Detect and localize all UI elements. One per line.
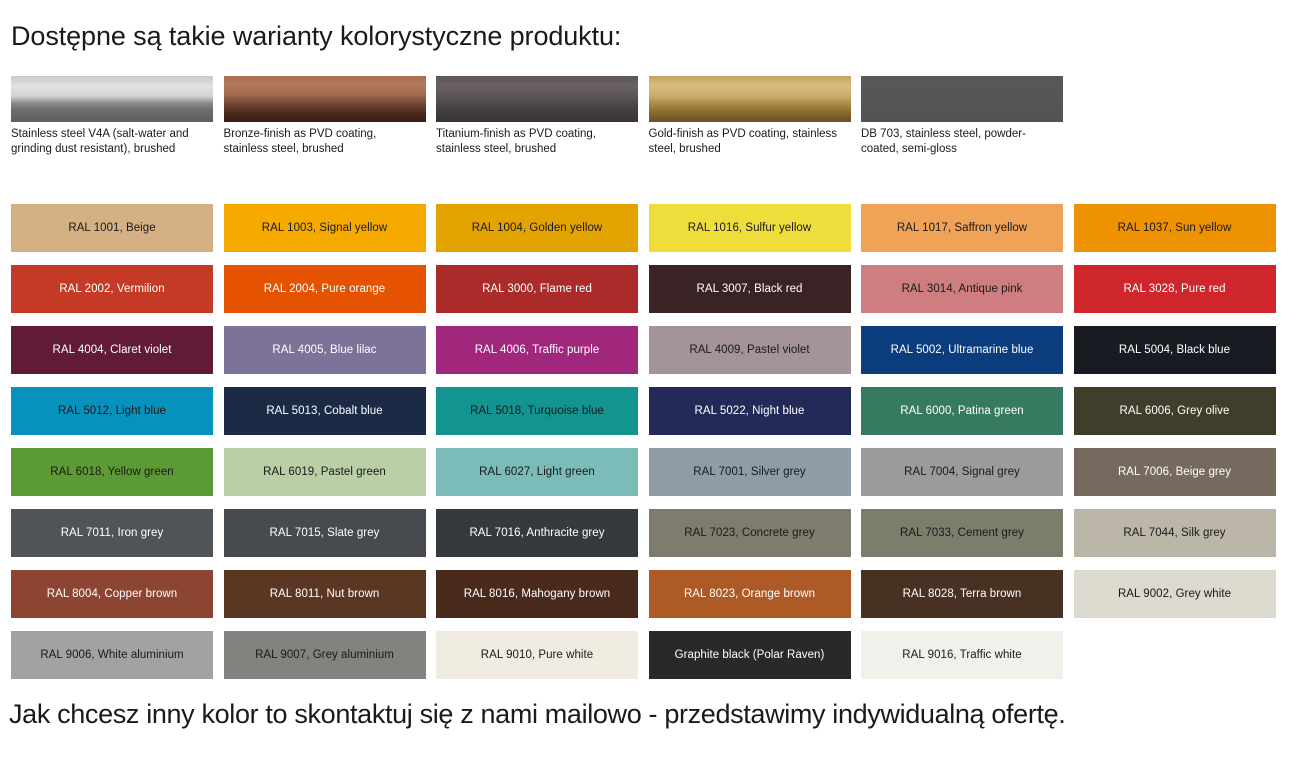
ral-swatch[interactable]: RAL 8004, Copper brown xyxy=(11,570,213,618)
ral-row: RAL 6018, Yellow greenRAL 6019, Pastel g… xyxy=(11,448,1291,509)
color-variants-page: Dostępne są takie warianty kolorystyczne… xyxy=(0,0,1297,757)
ral-swatch[interactable]: RAL 9010, Pure white xyxy=(436,631,638,679)
ral-swatch[interactable]: RAL 5022, Night blue xyxy=(649,387,851,435)
ral-swatch-label: RAL 4005, Blue lilac xyxy=(266,343,382,357)
contact-note: Jak chcesz inny kolor to skontaktuj się … xyxy=(9,697,1065,731)
ral-swatch[interactable]: RAL 7023, Concrete grey xyxy=(649,509,851,557)
ral-swatch[interactable]: RAL 9007, Grey aluminium xyxy=(224,631,426,679)
ral-swatch-label: RAL 6027, Light green xyxy=(473,465,601,479)
ral-swatch[interactable]: RAL 9006, White aluminium xyxy=(11,631,213,679)
ral-swatch[interactable]: RAL 1037, Sun yellow xyxy=(1074,204,1276,252)
ral-swatch-label: RAL 8011, Nut brown xyxy=(264,587,386,601)
ral-swatch[interactable]: RAL 4006, Traffic purple xyxy=(436,326,638,374)
finish-cell[interactable]: Bronze-finish as PVD coating, stainless … xyxy=(224,76,426,156)
ral-swatch-label: RAL 4006, Traffic purple xyxy=(469,343,606,357)
ral-swatch[interactable]: RAL 3007, Black red xyxy=(649,265,851,313)
ral-swatch-label: RAL 7001, Silver grey xyxy=(687,465,811,479)
ral-swatch[interactable]: RAL 7015, Slate grey xyxy=(224,509,426,557)
ral-row: RAL 5012, Light blueRAL 5013, Cobalt blu… xyxy=(11,387,1291,448)
ral-swatch-label: RAL 8004, Copper brown xyxy=(41,587,183,601)
ral-swatch[interactable]: RAL 4009, Pastel violet xyxy=(649,326,851,374)
finish-swatch xyxy=(861,76,1063,122)
ral-swatch[interactable]: RAL 5018, Turquoise blue xyxy=(436,387,638,435)
ral-row: RAL 8004, Copper brownRAL 8011, Nut brow… xyxy=(11,570,1291,631)
ral-swatch-label: RAL 6018, Yellow green xyxy=(44,465,179,479)
ral-color-grid: RAL 1001, BeigeRAL 1003, Signal yellowRA… xyxy=(11,204,1291,692)
finish-cell[interactable]: Titanium-finish as PVD coating, stainles… xyxy=(436,76,638,156)
finish-caption: Stainless steel V4A (salt-water and grin… xyxy=(11,127,211,156)
ral-swatch-label: RAL 4009, Pastel violet xyxy=(683,343,815,357)
ral-swatch[interactable]: RAL 1003, Signal yellow xyxy=(224,204,426,252)
ral-swatch-label: RAL 5018, Turquoise blue xyxy=(464,404,610,418)
ral-swatch-label: RAL 6000, Patina green xyxy=(894,404,1029,418)
ral-swatch[interactable]: RAL 7001, Silver grey xyxy=(649,448,851,496)
ral-swatch[interactable]: RAL 5013, Cobalt blue xyxy=(224,387,426,435)
ral-swatch-label: RAL 7016, Anthracite grey xyxy=(463,526,610,540)
ral-swatch[interactable]: RAL 6006, Grey olive xyxy=(1074,387,1276,435)
page-title: Dostępne są takie warianty kolorystyczne… xyxy=(11,19,621,53)
ral-swatch-label: RAL 9006, White aluminium xyxy=(34,648,189,662)
ral-swatch-label: RAL 7011, Iron grey xyxy=(55,526,170,540)
ral-swatch-label: RAL 8023, Orange brown xyxy=(678,587,821,601)
ral-swatch[interactable]: RAL 8023, Orange brown xyxy=(649,570,851,618)
ral-swatch-label: RAL 9007, Grey aluminium xyxy=(249,648,400,662)
finish-swatch xyxy=(649,76,851,122)
ral-swatch-label: RAL 1001, Beige xyxy=(62,221,161,235)
ral-swatch-label: RAL 3007, Black red xyxy=(691,282,809,296)
ral-swatch[interactable]: RAL 6027, Light green xyxy=(436,448,638,496)
ral-swatch[interactable]: RAL 4005, Blue lilac xyxy=(224,326,426,374)
ral-swatch-label: RAL 5012, Light blue xyxy=(52,404,172,418)
ral-swatch-label: RAL 5002, Ultramarine blue xyxy=(885,343,1040,357)
finish-cell[interactable]: Stainless steel V4A (salt-water and grin… xyxy=(11,76,213,156)
finish-swatch xyxy=(11,76,213,122)
ral-swatch-label: RAL 1037, Sun yellow xyxy=(1112,221,1238,235)
ral-swatch-label: RAL 6006, Grey olive xyxy=(1114,404,1236,418)
ral-swatch[interactable]: RAL 5004, Black blue xyxy=(1074,326,1276,374)
ral-swatch[interactable]: RAL 5002, Ultramarine blue xyxy=(861,326,1063,374)
ral-swatch-label: RAL 1017, Saffron yellow xyxy=(891,221,1033,235)
ral-swatch[interactable]: RAL 5012, Light blue xyxy=(11,387,213,435)
ral-swatch[interactable]: RAL 6019, Pastel green xyxy=(224,448,426,496)
ral-row: RAL 4004, Claret violetRAL 4005, Blue li… xyxy=(11,326,1291,387)
ral-swatch[interactable]: RAL 9016, Traffic white xyxy=(861,631,1063,679)
ral-row: RAL 2002, VermilionRAL 2004, Pure orange… xyxy=(11,265,1291,326)
finish-caption: DB 703, stainless steel, powder-coated, … xyxy=(861,127,1061,156)
ral-swatch[interactable]: Graphite black (Polar Raven) xyxy=(649,631,851,679)
finish-cell[interactable]: DB 703, stainless steel, powder-coated, … xyxy=(861,76,1063,156)
finish-cell[interactable]: Gold-finish as PVD coating, stainless st… xyxy=(649,76,851,156)
ral-swatch[interactable]: RAL 1004, Golden yellow xyxy=(436,204,638,252)
ral-swatch-label: RAL 9002, Grey white xyxy=(1112,587,1237,601)
ral-swatch[interactable]: RAL 3028, Pure red xyxy=(1074,265,1276,313)
ral-swatch-label: Graphite black (Polar Raven) xyxy=(669,648,831,662)
ral-swatch[interactable]: RAL 4004, Claret violet xyxy=(11,326,213,374)
ral-swatch[interactable]: RAL 1016, Sulfur yellow xyxy=(649,204,851,252)
ral-swatch-label: RAL 8016, Mahogany brown xyxy=(458,587,617,601)
ral-swatch-label: RAL 8028, Terra brown xyxy=(897,587,1028,601)
ral-swatch-label: RAL 3014, Antique pink xyxy=(896,282,1029,296)
ral-swatch[interactable]: RAL 8011, Nut brown xyxy=(224,570,426,618)
ral-swatch[interactable]: RAL 3014, Antique pink xyxy=(861,265,1063,313)
ral-swatch-label: RAL 7015, Slate grey xyxy=(264,526,386,540)
ral-swatch-label: RAL 7023, Concrete grey xyxy=(678,526,821,540)
ral-swatch-label: RAL 6019, Pastel green xyxy=(257,465,392,479)
ral-swatch[interactable]: RAL 8016, Mahogany brown xyxy=(436,570,638,618)
ral-swatch[interactable]: RAL 7033, Cement grey xyxy=(861,509,1063,557)
finish-swatch xyxy=(436,76,638,122)
ral-swatch[interactable]: RAL 8028, Terra brown xyxy=(861,570,1063,618)
ral-swatch[interactable]: RAL 1001, Beige xyxy=(11,204,213,252)
finish-caption: Titanium-finish as PVD coating, stainles… xyxy=(436,127,636,156)
ral-swatch[interactable]: RAL 6018, Yellow green xyxy=(11,448,213,496)
ral-swatch-label: RAL 5022, Night blue xyxy=(689,404,811,418)
ral-swatch[interactable]: RAL 6000, Patina green xyxy=(861,387,1063,435)
ral-swatch[interactable]: RAL 7006, Beige grey xyxy=(1074,448,1276,496)
ral-row: RAL 9006, White aluminiumRAL 9007, Grey … xyxy=(11,631,1291,692)
ral-swatch[interactable]: RAL 2002, Vermilion xyxy=(11,265,213,313)
ral-swatch-label: RAL 4004, Claret violet xyxy=(47,343,178,357)
ral-swatch-label: RAL 7033, Cement grey xyxy=(894,526,1030,540)
ral-swatch-label: RAL 9016, Traffic white xyxy=(896,648,1027,662)
ral-swatch[interactable]: RAL 7044, Silk grey xyxy=(1074,509,1276,557)
finish-caption: Bronze-finish as PVD coating, stainless … xyxy=(224,127,424,156)
ral-swatch[interactable]: RAL 7016, Anthracite grey xyxy=(436,509,638,557)
ral-swatch-label: RAL 1003, Signal yellow xyxy=(256,221,393,235)
ral-swatch-label: RAL 7044, Silk grey xyxy=(1117,526,1231,540)
ral-swatch-label: RAL 1016, Sulfur yellow xyxy=(682,221,817,235)
ral-swatch[interactable]: RAL 9002, Grey white xyxy=(1074,570,1276,618)
ral-row: RAL 7011, Iron greyRAL 7015, Slate greyR… xyxy=(11,509,1291,570)
ral-swatch-label: RAL 5013, Cobalt blue xyxy=(260,404,388,418)
ral-swatch-label: RAL 5004, Black blue xyxy=(1113,343,1236,357)
ral-swatch-label: RAL 2002, Vermilion xyxy=(53,282,170,296)
ral-swatch[interactable]: RAL 1017, Saffron yellow xyxy=(861,204,1063,252)
ral-swatch-label: RAL 3000, Flame red xyxy=(476,282,598,296)
ral-swatch-label: RAL 7006, Beige grey xyxy=(1112,465,1237,479)
finish-swatch xyxy=(224,76,426,122)
ral-swatch-label: RAL 2004, Pure orange xyxy=(258,282,391,296)
ral-swatch[interactable]: RAL 7004, Signal grey xyxy=(861,448,1063,496)
finish-swatch-strip: Stainless steel V4A (salt-water and grin… xyxy=(11,76,1291,186)
ral-swatch[interactable]: RAL 2004, Pure orange xyxy=(224,265,426,313)
ral-swatch-label: RAL 3028, Pure red xyxy=(1117,282,1231,296)
finish-caption: Gold-finish as PVD coating, stainless st… xyxy=(649,127,849,156)
ral-swatch-label: RAL 7004, Signal grey xyxy=(898,465,1026,479)
ral-swatch[interactable]: RAL 7011, Iron grey xyxy=(11,509,213,557)
ral-swatch-label: RAL 9010, Pure white xyxy=(475,648,599,662)
ral-swatch-label: RAL 1004, Golden yellow xyxy=(466,221,609,235)
ral-row: RAL 1001, BeigeRAL 1003, Signal yellowRA… xyxy=(11,204,1291,265)
ral-swatch[interactable]: RAL 3000, Flame red xyxy=(436,265,638,313)
